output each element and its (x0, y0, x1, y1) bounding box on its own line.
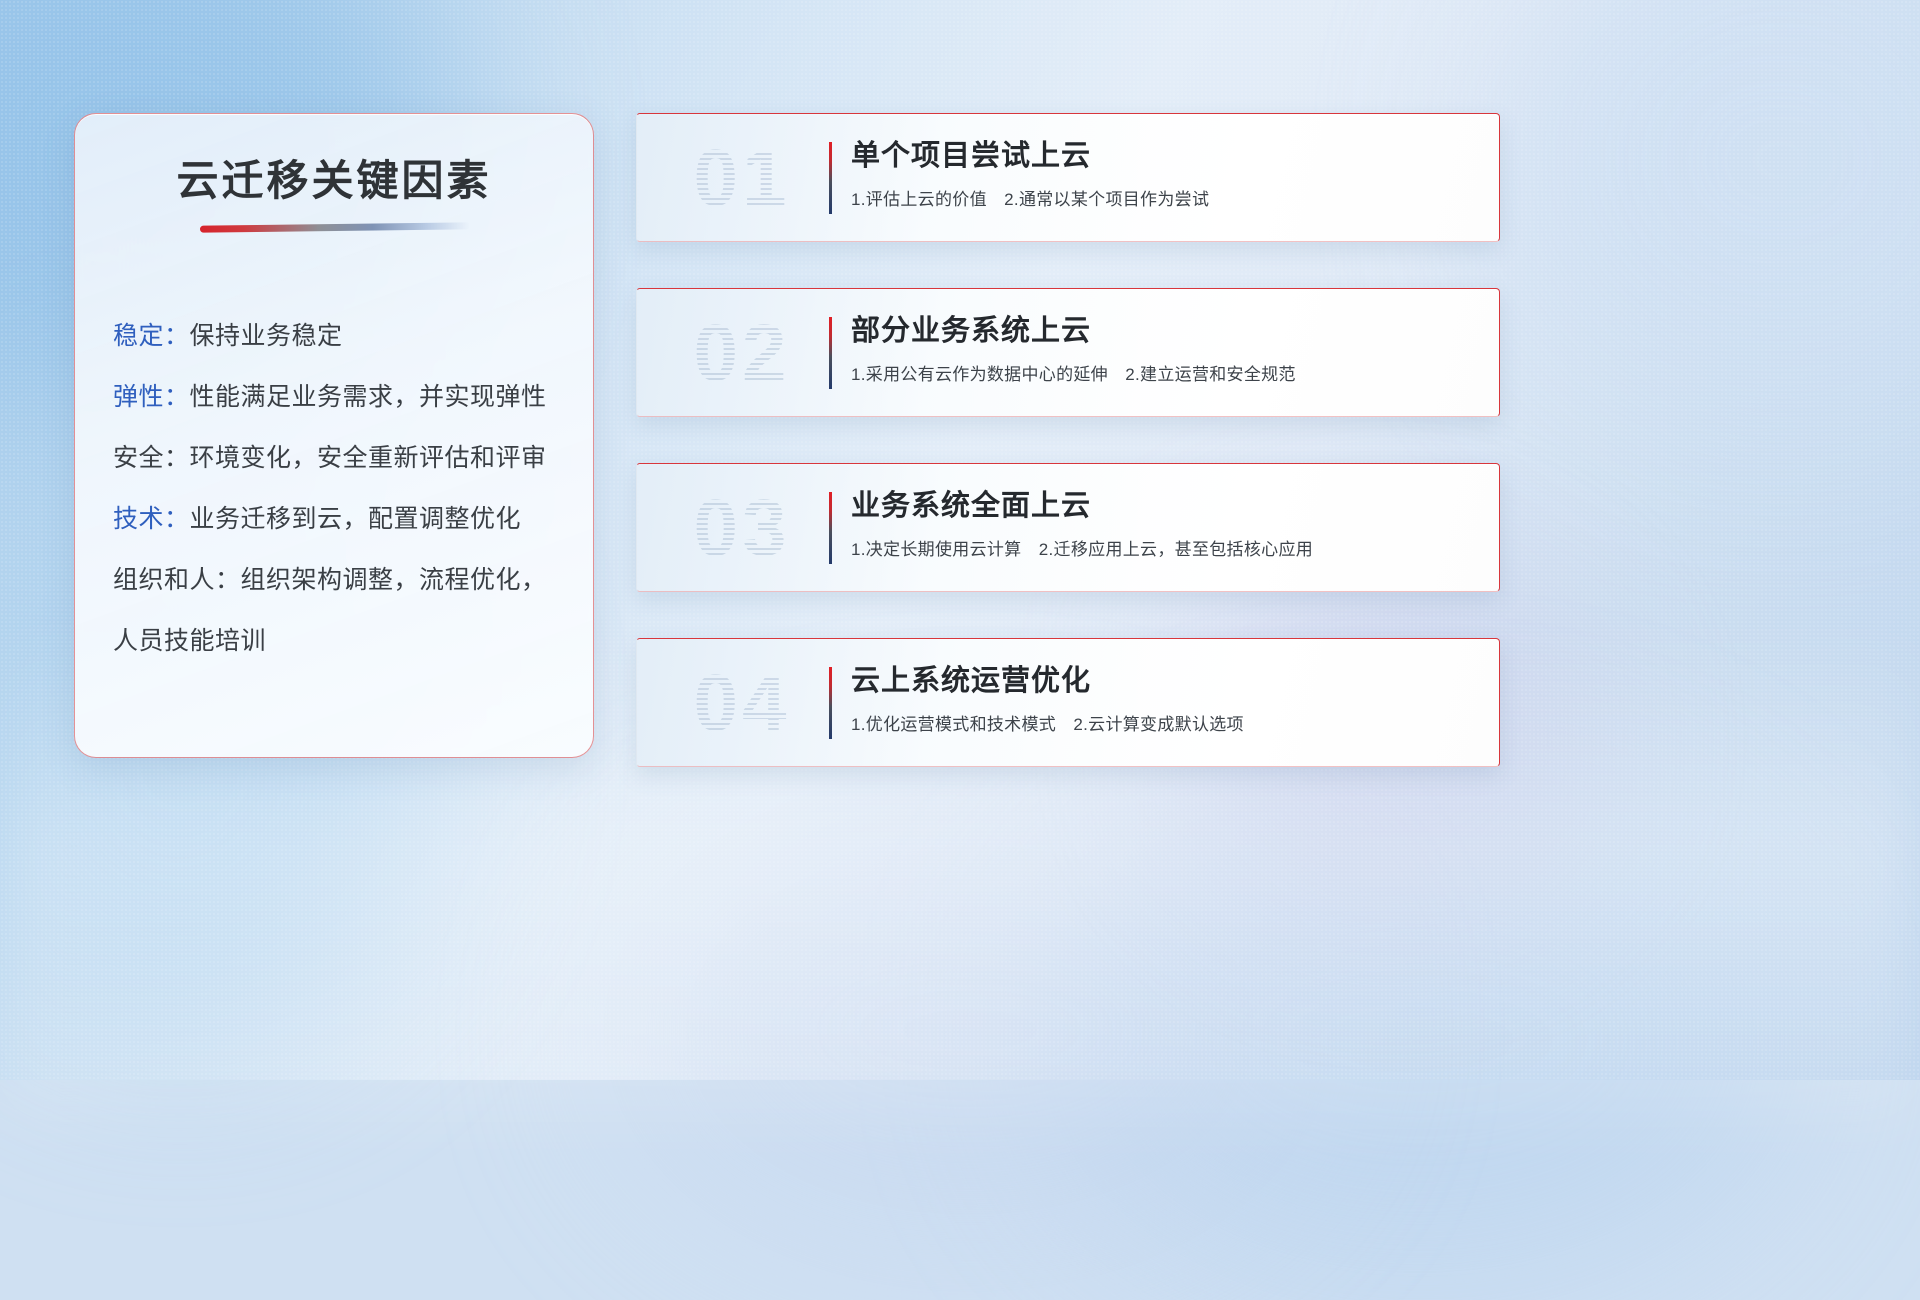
key-factors-list: 稳定：保持业务稳定 弹性：性能满足业务需求，并实现弹性 安全：环境变化，安全重新… (113, 306, 567, 672)
list-item-label: 弹性： (113, 383, 190, 411)
stage-accent-bar (829, 667, 832, 739)
stage-number-watermark: 03 (667, 478, 817, 578)
list-item-text: 保持业务稳定 (190, 322, 343, 350)
list-item: 安全：环境变化，安全重新评估和评审 (113, 428, 567, 489)
list-item-continuation: 人员技能培训 (113, 611, 567, 672)
list-item-text: 业务迁移到云，配置调整优化 (190, 505, 522, 533)
stage-description: 1.评估上云的价值 2.通常以某个项目作为尝试 (851, 188, 1475, 212)
list-item-text: 人员技能培训 (113, 627, 266, 655)
stage-accent-bar (829, 317, 832, 389)
stage-card-body: 业务系统全面上云 1.决定长期使用云计算 2.迁移应用上云，甚至包括核心应用 (851, 486, 1475, 562)
key-factors-panel: 云迁移关键因素 稳定：保持业务稳定 弹性：性能满足业务需求，并实现弹性 安全：环… (74, 113, 594, 758)
list-item-label: 安全： (113, 444, 190, 472)
list-item-label: 技术： (113, 505, 190, 533)
stage-card-body: 云上系统运营优化 1.优化运营模式和技术模式 2.云计算变成默认选项 (851, 661, 1475, 737)
title-underline-gradient (200, 222, 470, 232)
list-item-text: 环境变化，安全重新评估和评审 (190, 444, 547, 472)
migration-stage-cards: 01 单个项目尝试上云 1.评估上云的价值 2.通常以某个项目作为尝试 02 部… (636, 113, 1500, 813)
stage-card-body: 单个项目尝试上云 1.评估上云的价值 2.通常以某个项目作为尝试 (851, 136, 1475, 212)
list-item-text: 性能满足业务需求，并实现弹性 (190, 383, 547, 411)
stage-title: 部分业务系统上云 (851, 311, 1475, 351)
stage-number-watermark: 04 (667, 653, 817, 753)
stage-description: 1.优化运营模式和技术模式 2.云计算变成默认选项 (851, 713, 1475, 737)
stage-card[interactable]: 01 单个项目尝试上云 1.评估上云的价值 2.通常以某个项目作为尝试 (636, 113, 1500, 242)
stage-accent-bar (829, 142, 832, 214)
list-item-text: 组织架构调整，流程优化， (241, 566, 547, 594)
stage-number-watermark: 01 (667, 128, 817, 228)
stage-title: 单个项目尝试上云 (851, 136, 1475, 176)
list-item-label: 组织和人： (113, 566, 241, 594)
stage-number-watermark: 02 (667, 303, 817, 403)
stage-description: 1.采用公有云作为数据中心的延伸 2.建立运营和安全规范 (851, 363, 1475, 387)
stage-accent-bar (829, 492, 832, 564)
page-title: 云迁移关键因素 (75, 147, 593, 208)
stage-card[interactable]: 02 部分业务系统上云 1.采用公有云作为数据中心的延伸 2.建立运营和安全规范 (636, 288, 1500, 417)
stage-card[interactable]: 04 云上系统运营优化 1.优化运营模式和技术模式 2.云计算变成默认选项 (636, 638, 1500, 767)
list-item-label: 稳定： (113, 322, 190, 350)
stage-title: 业务系统全面上云 (851, 486, 1475, 526)
list-item: 弹性：性能满足业务需求，并实现弹性 (113, 367, 567, 428)
list-item: 稳定：保持业务稳定 (113, 306, 567, 367)
stage-card-body: 部分业务系统上云 1.采用公有云作为数据中心的延伸 2.建立运营和安全规范 (851, 311, 1475, 387)
list-item: 技术：业务迁移到云，配置调整优化 (113, 489, 567, 550)
stage-card[interactable]: 03 业务系统全面上云 1.决定长期使用云计算 2.迁移应用上云，甚至包括核心应… (636, 463, 1500, 592)
list-item: 组织和人：组织架构调整，流程优化， (113, 550, 567, 611)
stage-description: 1.决定长期使用云计算 2.迁移应用上云，甚至包括核心应用 (851, 538, 1475, 562)
stage-title: 云上系统运营优化 (851, 661, 1475, 701)
